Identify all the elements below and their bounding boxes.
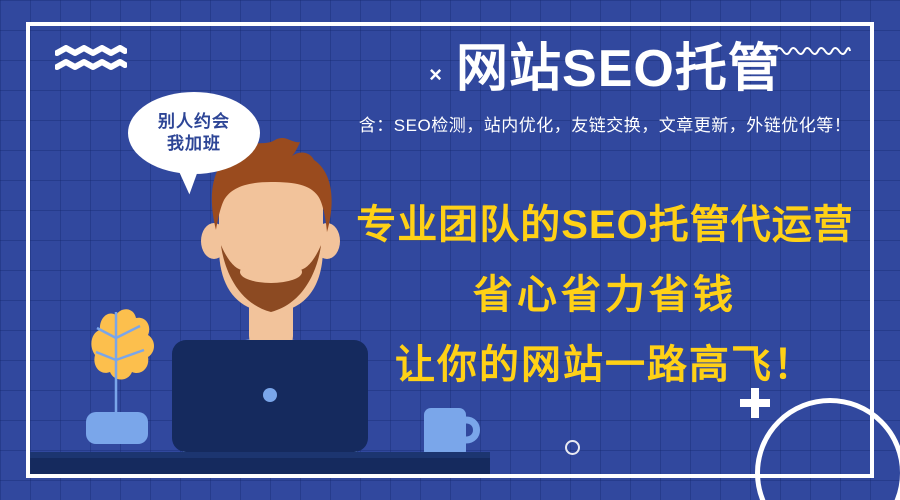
copy-line-2: 省心省力省钱 [330,262,880,320]
title-row: × 网站SEO托管 [330,42,880,97]
copy-line-1: 专业团队的SEO托管代运营 [330,192,880,250]
page-title: 网站SEO托管 [456,42,781,97]
seo-promo-banner: 别人约会 我加班 × 网站SEO托管 含：SEO检测，站内优化，友链交换，文章更… [0,0,900,500]
circle-outline-small-icon [565,440,580,455]
wave-lines-icon [55,45,127,73]
x-mark-icon: × [429,64,442,86]
speech-bubble-line-2: 我加班 [167,133,221,155]
copy-line-3: 让你的网站一路高飞！ [330,332,880,390]
speech-bubble-line-1: 别人约会 [158,111,230,133]
title-block: × 网站SEO托管 含：SEO检测，站内优化，友链交换，文章更新，外链优化等！ [330,42,880,136]
speech-bubble: 别人约会 我加班 [128,92,260,174]
plus-mark-icon [740,388,770,418]
page-subtitle: 含：SEO检测，站内优化，友链交换，文章更新，外链优化等！ [330,111,880,136]
